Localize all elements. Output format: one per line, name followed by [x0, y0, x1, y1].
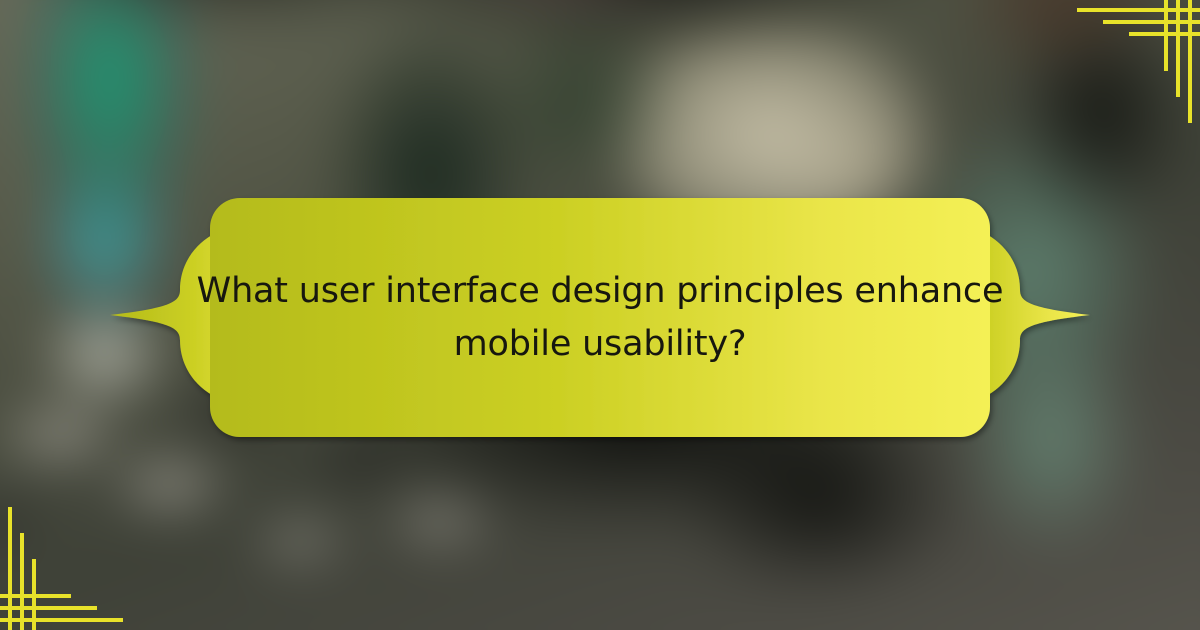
screenshot-canvas: What user interface design principles en…: [0, 0, 1200, 630]
corner-line-vertical: [1188, 0, 1192, 123]
question-text: What user interface design principles en…: [180, 265, 1020, 371]
corner-line-horizontal: [1103, 20, 1200, 24]
corner-line-horizontal: [0, 618, 123, 622]
corner-line-vertical: [1164, 0, 1168, 71]
corner-line-horizontal: [0, 606, 97, 610]
corner-line-vertical: [32, 559, 36, 630]
corner-line-vertical: [8, 507, 12, 630]
corner-line-horizontal: [1077, 8, 1200, 12]
corner-line-vertical: [20, 533, 24, 630]
corner-line-vertical: [1176, 0, 1180, 97]
